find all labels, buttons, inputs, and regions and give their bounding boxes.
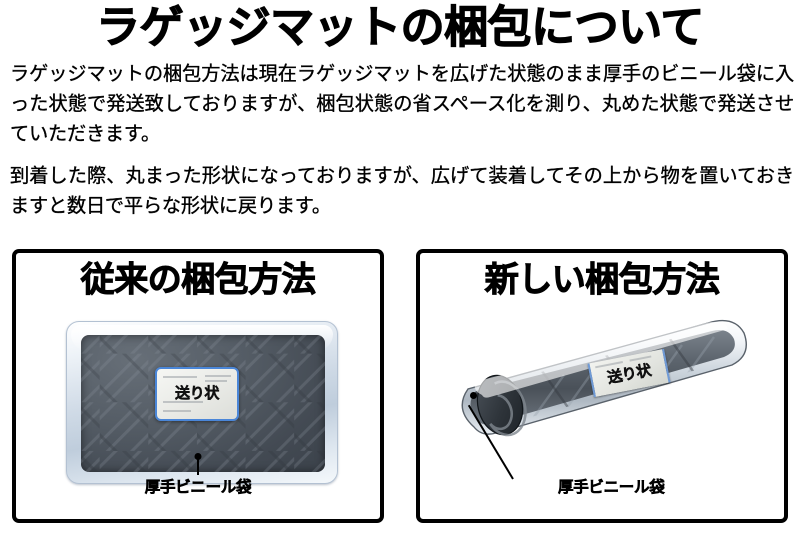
panel-conventional-packing: 従来の梱包方法	[12, 249, 384, 523]
leader-dot	[470, 392, 477, 399]
caption-vinyl-bag: 厚手ビニール袋	[16, 479, 380, 497]
caption-vinyl-bag: 厚手ビニール袋	[558, 479, 664, 497]
panel-heading-conventional: 従来の梱包方法	[16, 259, 380, 301]
paragraph-1: ラゲッジマットの梱包方法は現在ラゲッジマットを広げた状態のまま厚手のビニール袋に…	[10, 60, 794, 150]
paragraph-2: 到着した際、丸まった形状になっておりますが、広げて装着してその上から物を置いてお…	[10, 162, 794, 222]
leader-line	[197, 457, 199, 475]
shipping-label-flat: 送り状	[155, 367, 239, 421]
comparison-panels: 従来の梱包方法	[0, 249, 800, 527]
body-copy: ラゲッジマットの梱包方法は現在ラゲッジマットを広げた状態のまま厚手のビニール袋に…	[10, 60, 794, 234]
page-title: ラゲッジマットの梱包について	[0, 2, 800, 54]
panel-new-packing: 新しい梱包方法	[416, 249, 788, 523]
panel-heading-new: 新しい梱包方法	[420, 259, 784, 301]
vinyl-bag-flat: 送り状	[66, 321, 338, 484]
shipping-label-text: 送り状	[157, 382, 237, 403]
